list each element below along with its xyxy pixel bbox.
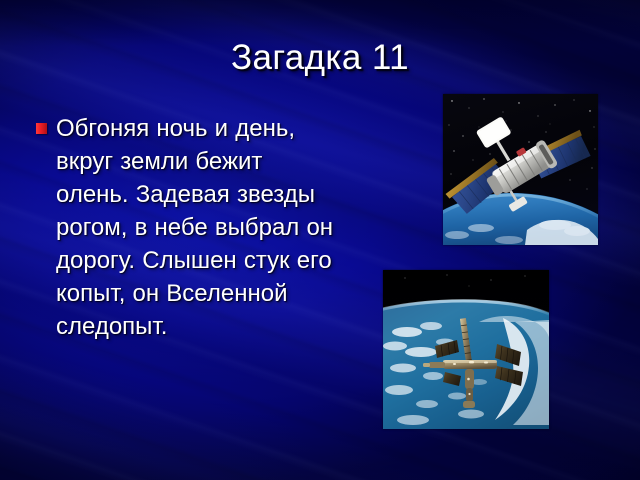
space-station-artwork	[383, 270, 549, 429]
space-station-photo	[383, 270, 549, 429]
presentation-slide: Загадка 11 Обгоняя ночь и день, вкруг зе…	[0, 0, 640, 480]
slide-body: Обгоняя ночь и день, вкруг земли бежит о…	[36, 112, 342, 343]
red-square-bullet-icon	[36, 123, 47, 134]
bullet-item-text: Обгоняя ночь и день, вкруг земли бежит о…	[56, 112, 342, 343]
slide-title: Загадка 11	[0, 36, 640, 80]
space-telescope-photo	[443, 94, 598, 245]
space-telescope-artwork	[443, 94, 598, 245]
bullet-list-item: Обгоняя ночь и день, вкруг земли бежит о…	[36, 112, 342, 343]
